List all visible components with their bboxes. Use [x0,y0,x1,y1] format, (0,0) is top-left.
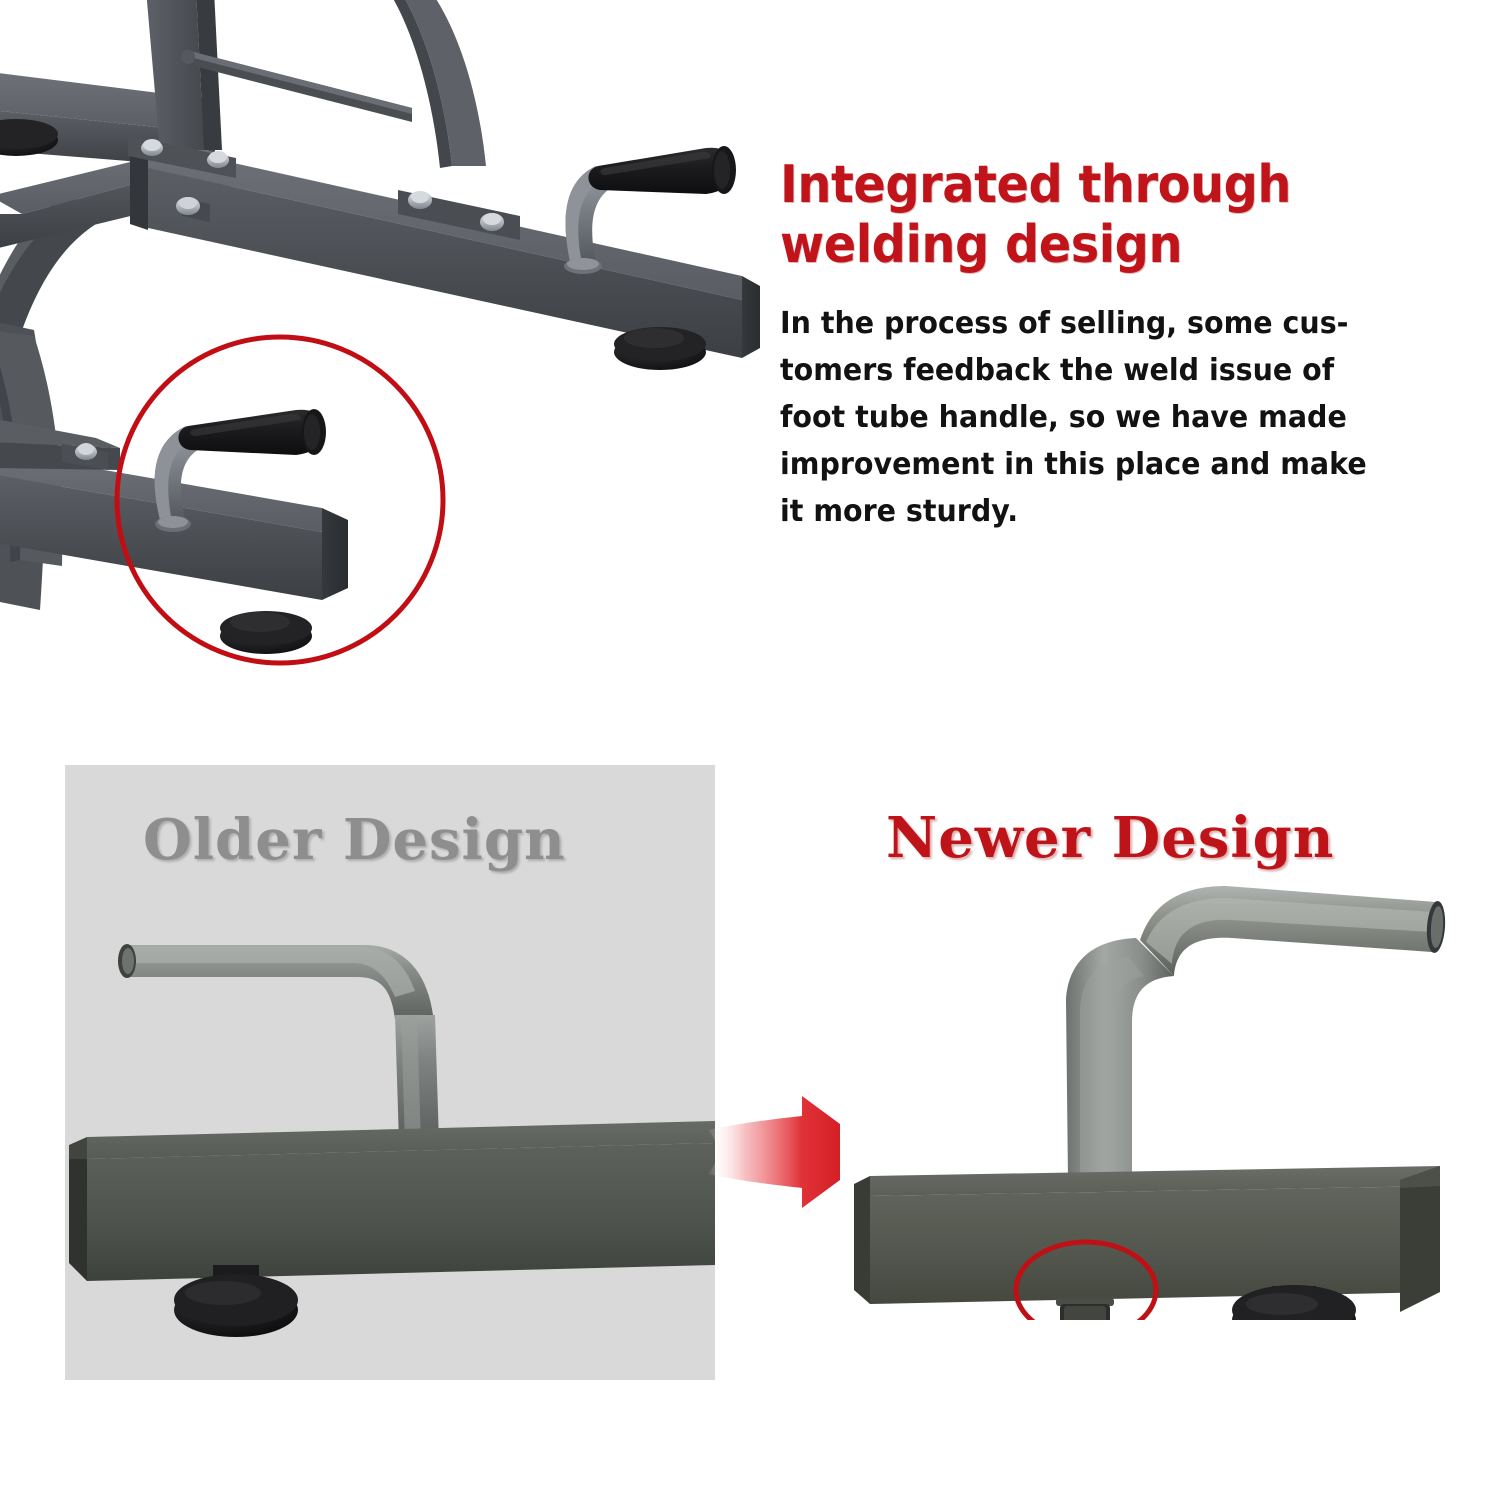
frame-foot-pad-right [614,327,706,370]
welded-tube-end-protrusion [1056,1298,1114,1320]
frame-foot-pad-inset [220,611,312,654]
body-line-2: tomers feedback the weld issue of [780,347,1398,394]
body-line-3: foot tube handle, so we have made [780,394,1398,441]
headline-block: Integrated through welding design [780,155,1420,276]
body-line-1: In the process of selling, some cus- [780,300,1398,347]
hero-product-photo [0,0,760,700]
newer-design-label: Newer Design [886,805,1335,871]
newer-square-bar [854,1166,1440,1312]
older-design-panel: Older Design [65,765,715,1380]
newer-design-photo [840,880,1480,1320]
headline-line-2: welding design [780,215,1369,275]
product-infographic-page: Integrated through welding design In the… [0,0,1500,1500]
body-line-5: it more sturdy. [780,488,1398,535]
body-line-4: improvement in this place and make [780,441,1398,488]
headline-line-1: Integrated through [780,155,1369,215]
older-design-label-text: Older Design [143,807,566,873]
older-square-bar [69,1121,715,1281]
body-paragraph: In the process of selling, some cus- tom… [780,300,1430,535]
